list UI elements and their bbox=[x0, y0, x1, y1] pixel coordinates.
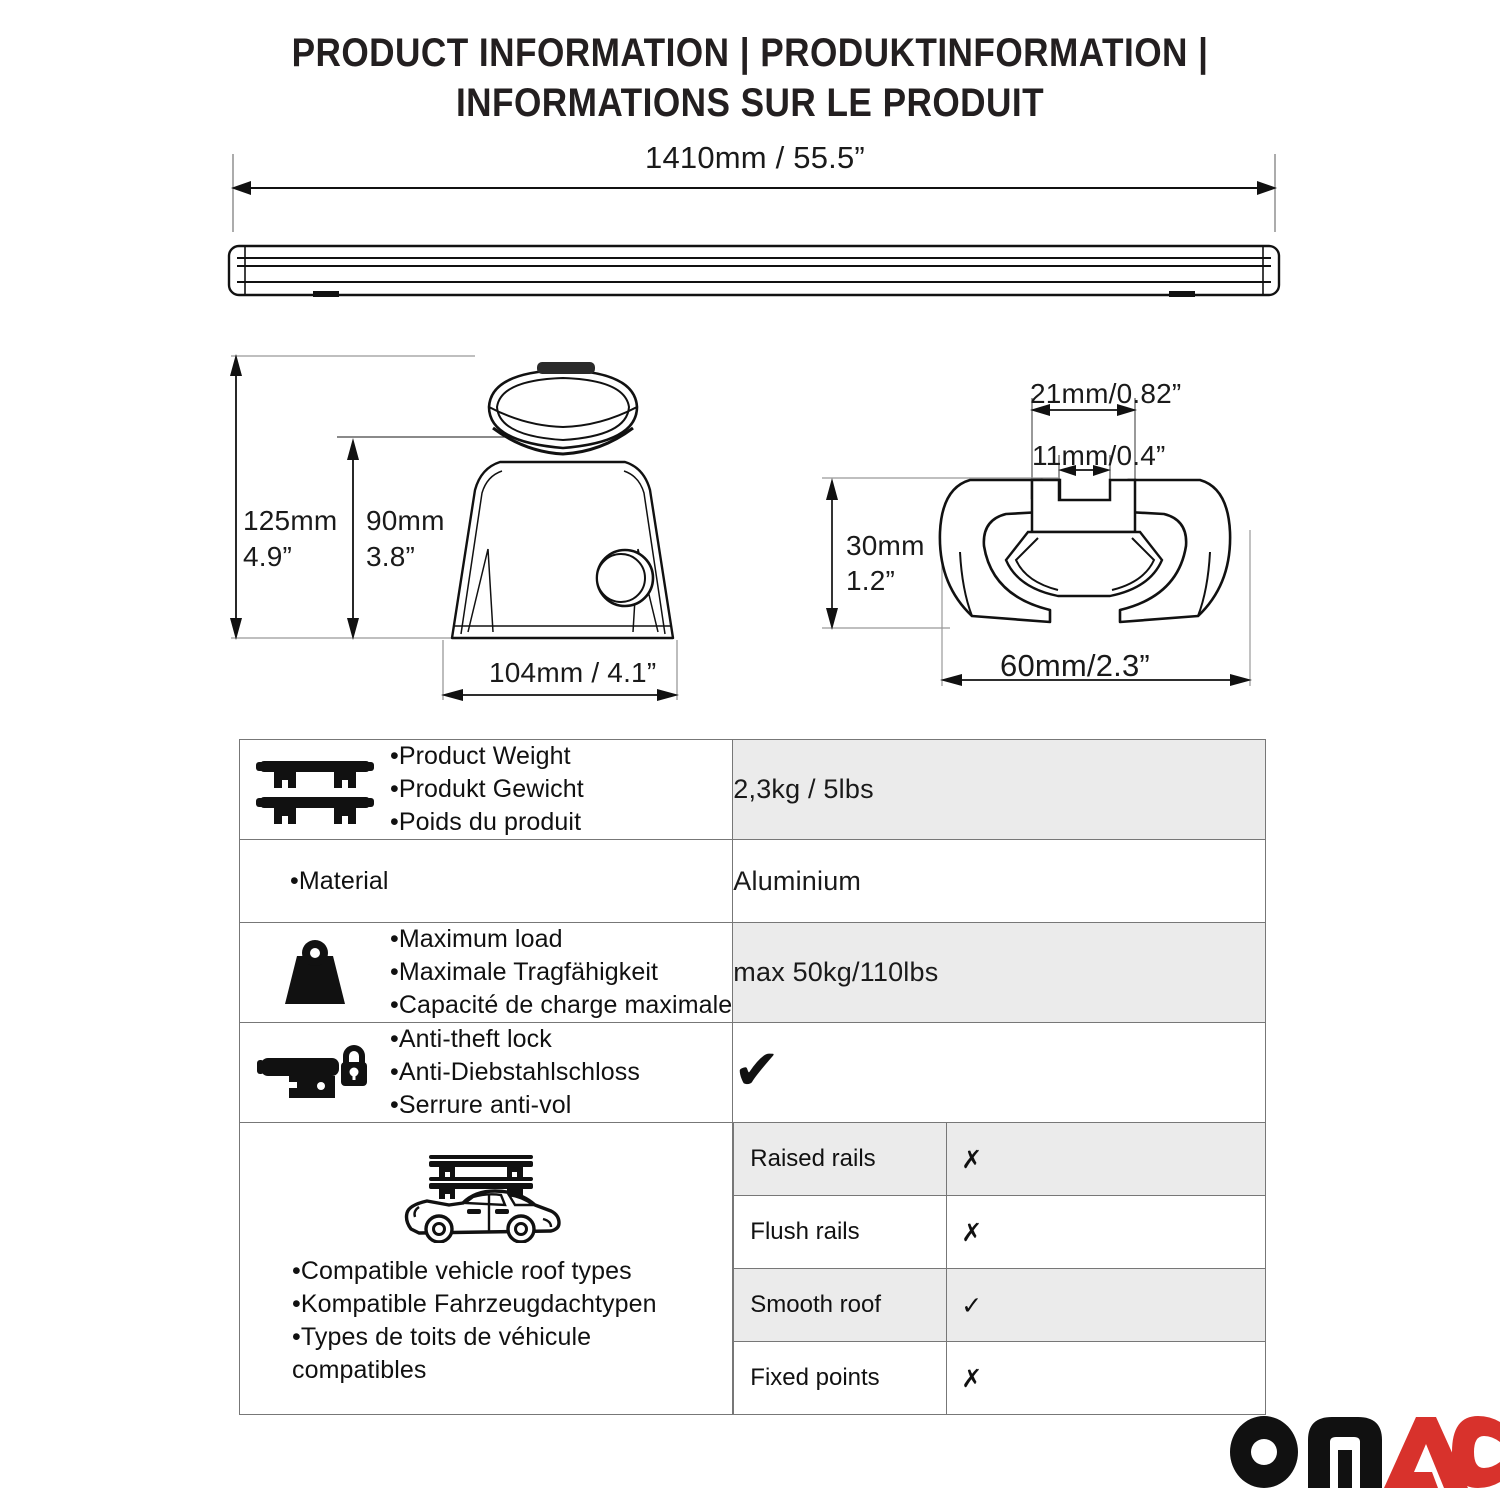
foot-width-label: 104mm / 4.1” bbox=[489, 657, 656, 689]
product-spec-table: •Product Weight •Produkt Gewicht •Poids … bbox=[239, 739, 1266, 1415]
roof-type-mark: ✓ bbox=[947, 1269, 1265, 1342]
roof-type-mark: ✗ bbox=[947, 1196, 1265, 1269]
row-value-anti-theft-lock: ✔ bbox=[733, 1023, 1266, 1123]
row-value-material: Aluminium bbox=[733, 840, 1266, 923]
profile-height-mm: 30mm bbox=[846, 530, 925, 562]
label-line: •Types de toits de véhicule compatibles bbox=[292, 1321, 662, 1387]
omac-logo-red-part bbox=[1384, 1416, 1500, 1488]
foot-height-total-mm: 125mm bbox=[243, 505, 337, 537]
row-label-text: •Compatible vehicle roof types •Kompatib… bbox=[240, 1243, 722, 1387]
row-value-maximum-load: max 50kg/110lbs bbox=[733, 923, 1266, 1023]
row-label-text: •Anti-theft lock •Anti-Diebstahlschloss … bbox=[390, 1023, 732, 1122]
roof-type-name: Smooth roof bbox=[734, 1269, 947, 1342]
label-line: •Serrure anti-vol bbox=[390, 1089, 732, 1122]
roof-type-subtable: Raised rails ✗ Flush rails ✗ Smooth roof… bbox=[733, 1123, 1265, 1414]
crossbar-length-label: 1410mm / 55.5” bbox=[645, 140, 865, 176]
label-line: •Produkt Gewicht bbox=[390, 773, 732, 806]
label-line: •Maximale Tragfähigkeit bbox=[390, 956, 732, 989]
row-label-roof-types: •Compatible vehicle roof types •Kompatib… bbox=[240, 1123, 733, 1415]
label-line: •Poids du produit bbox=[390, 806, 732, 839]
row-value-product-weight: 2,3kg / 5lbs bbox=[733, 740, 1266, 840]
roof-subrow: Raised rails ✗ bbox=[734, 1123, 1265, 1196]
roof-type-mark: ✗ bbox=[947, 1123, 1265, 1196]
row-label-text: •Maximum load •Maximale Tragfähigkeit •C… bbox=[390, 923, 732, 1022]
label-line: •Product Weight bbox=[390, 740, 732, 773]
label-line: •Anti-Diebstahlschloss bbox=[390, 1056, 732, 1089]
label-line: •Anti-theft lock bbox=[390, 1023, 732, 1056]
roof-subrow: Fixed points ✗ bbox=[734, 1342, 1265, 1415]
label-line: •Material bbox=[290, 865, 732, 898]
roof-type-mark: ✗ bbox=[947, 1342, 1265, 1415]
table-row: •Maximum load •Maximale Tragfähigkeit •C… bbox=[240, 923, 1266, 1023]
roof-type-name: Fixed points bbox=[734, 1342, 947, 1415]
table-row: •Compatible vehicle roof types •Kompatib… bbox=[240, 1123, 1266, 1415]
title-line-2: INFORMATIONS SUR LE PRODUIT bbox=[90, 78, 1410, 128]
table-row: •Product Weight •Produkt Gewicht •Poids … bbox=[240, 740, 1266, 840]
label-line: •Maximum load bbox=[390, 923, 732, 956]
lock-icon bbox=[240, 1036, 390, 1110]
row-label-text: •Product Weight •Produkt Gewicht •Poids … bbox=[390, 740, 732, 839]
roof-subrow: Smooth roof ✓ bbox=[734, 1269, 1265, 1342]
foot-height-total-in: 4.9” bbox=[243, 541, 292, 573]
weight-icon bbox=[240, 936, 390, 1010]
profile-slot-outer-label: 21mm/0.82” bbox=[1030, 378, 1181, 410]
label-line: •Kompatible Fahrzeugdachtypen bbox=[292, 1288, 722, 1321]
table-row: •Material Aluminium bbox=[240, 840, 1266, 923]
foot-height-inner-in: 3.8” bbox=[366, 541, 415, 573]
car-with-roof-rack-icon bbox=[240, 1147, 722, 1243]
profile-slot-inner-label: 11mm/0.4” bbox=[1032, 440, 1166, 472]
profile-width-label: 60mm/2.3” bbox=[1000, 648, 1150, 684]
row-label-material: •Material bbox=[240, 840, 733, 923]
title-line-1: PRODUCT INFORMATION | PRODUKTINFORMATION… bbox=[90, 28, 1410, 78]
row-label-text: •Material bbox=[240, 865, 732, 898]
label-line: •Compatible vehicle roof types bbox=[292, 1255, 722, 1288]
roof-type-name: Raised rails bbox=[734, 1123, 947, 1196]
row-label-product-weight: •Product Weight •Produkt Gewicht •Poids … bbox=[240, 740, 733, 840]
label-line: •Capacité de charge maximale bbox=[390, 989, 732, 1022]
page-title: PRODUCT INFORMATION | PRODUKTINFORMATION… bbox=[0, 28, 1500, 128]
profile-height-in: 1.2” bbox=[846, 565, 895, 597]
roof-type-subtable-cell: Raised rails ✗ Flush rails ✗ Smooth roof… bbox=[733, 1123, 1266, 1415]
roof-type-name: Flush rails bbox=[734, 1196, 947, 1269]
row-label-anti-theft-lock: •Anti-theft lock •Anti-Diebstahlschloss … bbox=[240, 1023, 733, 1123]
roof-rack-bars-icon bbox=[240, 753, 390, 827]
omac-logo-dark-part bbox=[1230, 1416, 1382, 1488]
row-label-maximum-load: •Maximum load •Maximale Tragfähigkeit •C… bbox=[240, 923, 733, 1023]
table-row: •Anti-theft lock •Anti-Diebstahlschloss … bbox=[240, 1023, 1266, 1123]
foot-height-inner-mm: 90mm bbox=[366, 505, 445, 537]
omac-logo bbox=[1228, 1414, 1500, 1490]
check-mark-icon: ✔ bbox=[733, 1037, 1265, 1109]
roof-subrow: Flush rails ✗ bbox=[734, 1196, 1265, 1269]
